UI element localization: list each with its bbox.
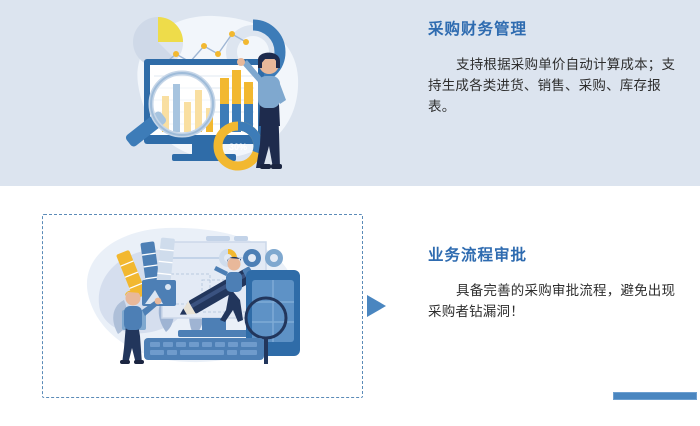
dashed-frame (42, 214, 363, 398)
approval-text-block: 业务流程审批 具备完善的采购审批流程，避免出现采购者钻漏洞！ (428, 246, 678, 322)
bottom-accent-bar (613, 392, 697, 400)
infographic-page: 30% 采购财务管理 支 (0, 0, 700, 426)
approval-body: 具备完善的采购审批流程，避免出现采购者钻漏洞！ (428, 280, 678, 322)
arrow-marker-icon (367, 295, 386, 317)
finance-text-block: 采购财务管理 支持根据采购单价自动计算成本；支持生成各类进货、销售、采购、库存报… (428, 20, 678, 117)
finance-title: 采购财务管理 (428, 20, 678, 40)
data-analytics-illustration: 30% (110, 4, 310, 174)
section-finance: 30% 采购财务管理 支 (0, 0, 700, 186)
donut-30-percent-label: 30% (229, 142, 247, 152)
approval-title: 业务流程审批 (428, 246, 678, 266)
finance-body: 支持根据采购单价自动计算成本；支持生成各类进货、销售、采购、库存报表。 (428, 54, 678, 117)
